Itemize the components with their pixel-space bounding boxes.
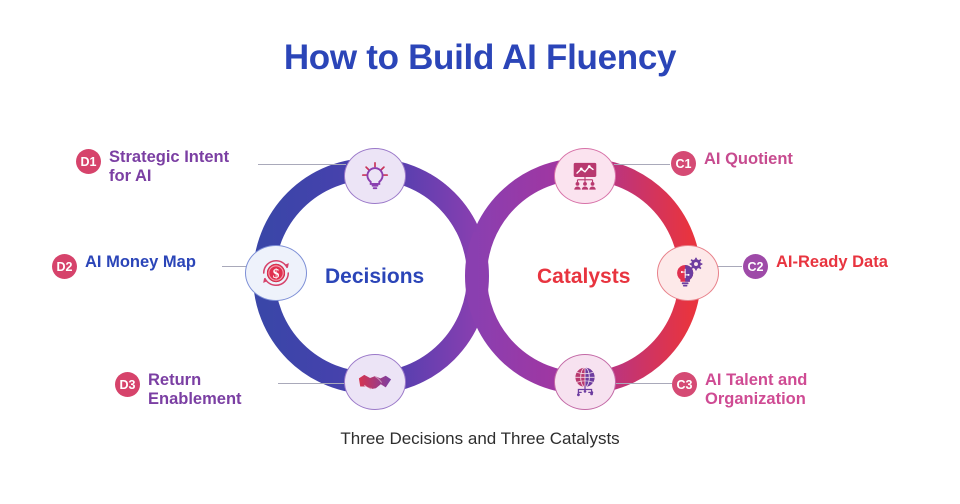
callout-label-c1: AI Quotient (704, 150, 793, 169)
ring-label-decisions: Decisions (325, 265, 417, 289)
lightbulb-circuit-gear-icon (672, 257, 704, 289)
icon-bubble-d1[interactable] (344, 148, 406, 204)
callout-c3[interactable]: C3 AI Talent and Organization (672, 371, 807, 410)
badge-c1: C1 (671, 151, 696, 176)
badge-d2: D2 (52, 254, 77, 279)
callout-d3[interactable]: D3 Return Enablement (115, 371, 242, 410)
connector-c3 (614, 383, 672, 384)
icon-bubble-d3[interactable] (344, 354, 406, 410)
callout-d2[interactable]: D2 AI Money Map (52, 253, 196, 279)
callout-c2[interactable]: C2 AI-Ready Data (743, 253, 888, 279)
callout-label-d1: Strategic Intent for AI (109, 148, 229, 187)
connector-d1 (258, 164, 346, 165)
badge-d3: D3 (115, 372, 140, 397)
icon-bubble-d2[interactable]: $ (245, 245, 307, 301)
lightbulb-icon (360, 161, 390, 191)
badge-d1: D1 (76, 149, 101, 174)
ring-label-catalysts: Catalysts (537, 265, 629, 289)
connector-d3 (278, 383, 348, 384)
handshake-icon (358, 367, 392, 397)
callout-label-c2: AI-Ready Data (776, 253, 888, 272)
globe-circuit-icon (569, 366, 601, 398)
callout-c1[interactable]: C1 AI Quotient (671, 150, 793, 176)
infographic-canvas: How to Build AI Fluency (0, 0, 960, 504)
callout-label-c3: AI Talent and Organization (705, 371, 807, 410)
callout-label-d2: AI Money Map (85, 253, 196, 272)
badge-c2: C2 (743, 254, 768, 279)
icon-bubble-c2[interactable] (657, 245, 719, 301)
badge-c3: C3 (672, 372, 697, 397)
icon-bubble-c1[interactable] (554, 148, 616, 204)
icon-bubble-c3[interactable] (554, 354, 616, 410)
chart-presentation-people-icon (569, 160, 601, 192)
connector-d2 (222, 266, 248, 267)
dollar-coin-cycle-icon: $ (259, 256, 293, 290)
figure-caption: Three Decisions and Three Catalysts (0, 429, 960, 449)
connector-c1 (614, 164, 670, 165)
callout-d1[interactable]: D1 Strategic Intent for AI (76, 148, 229, 187)
svg-text:$: $ (273, 266, 280, 281)
callout-label-d3: Return Enablement (148, 371, 242, 410)
